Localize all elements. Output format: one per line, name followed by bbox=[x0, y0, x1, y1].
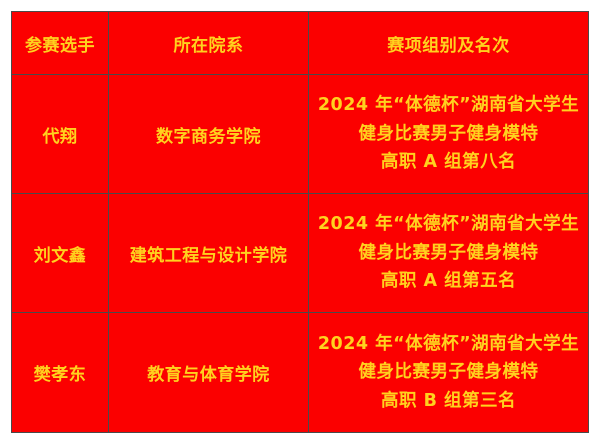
result-line-2: 健身比赛男子健身模特 bbox=[315, 239, 582, 267]
column-header-result: 赛项组别及名次 bbox=[309, 12, 589, 75]
cell-result: 2024 年“体德杯”湖南省大学生 健身比赛男子健身模特 高职 B 组第三名 bbox=[309, 313, 589, 433]
award-table: 参赛选手 所在院系 赛项组别及名次 代翔 数字商务学院 2024 年“体德杯”湖… bbox=[11, 11, 589, 433]
page-canvas: 参赛选手 所在院系 赛项组别及名次 代翔 数字商务学院 2024 年“体德杯”湖… bbox=[0, 0, 600, 435]
table-body: 代翔 数字商务学院 2024 年“体德杯”湖南省大学生 健身比赛男子健身模特 高… bbox=[12, 75, 589, 433]
cell-participant-name: 樊孝东 bbox=[12, 313, 109, 433]
column-header-name: 参赛选手 bbox=[12, 12, 109, 75]
table-header-row: 参赛选手 所在院系 赛项组别及名次 bbox=[12, 12, 589, 75]
result-line-3: 高职 A 组第八名 bbox=[315, 148, 582, 176]
table-row: 刘文鑫 建筑工程与设计学院 2024 年“体德杯”湖南省大学生 健身比赛男子健身… bbox=[12, 194, 589, 313]
cell-result: 2024 年“体德杯”湖南省大学生 健身比赛男子健身模特 高职 A 组第八名 bbox=[309, 75, 589, 194]
result-line-3: 高职 B 组第三名 bbox=[315, 387, 582, 415]
table-row: 樊孝东 教育与体育学院 2024 年“体德杯”湖南省大学生 健身比赛男子健身模特… bbox=[12, 313, 589, 433]
cell-department: 数字商务学院 bbox=[109, 75, 309, 194]
result-line-2: 健身比赛男子健身模特 bbox=[315, 358, 582, 386]
result-line-1: 2024 年“体德杯”湖南省大学生 bbox=[315, 330, 582, 358]
cell-result: 2024 年“体德杯”湖南省大学生 健身比赛男子健身模特 高职 A 组第五名 bbox=[309, 194, 589, 313]
result-line-3: 高职 A 组第五名 bbox=[315, 267, 582, 295]
result-line-1: 2024 年“体德杯”湖南省大学生 bbox=[315, 210, 582, 238]
cell-department: 建筑工程与设计学院 bbox=[109, 194, 309, 313]
cell-participant-name: 刘文鑫 bbox=[12, 194, 109, 313]
column-header-dept: 所在院系 bbox=[109, 12, 309, 75]
cell-participant-name: 代翔 bbox=[12, 75, 109, 194]
result-line-2: 健身比赛男子健身模特 bbox=[315, 120, 582, 148]
table-header: 参赛选手 所在院系 赛项组别及名次 bbox=[12, 12, 589, 75]
result-line-1: 2024 年“体德杯”湖南省大学生 bbox=[315, 91, 582, 119]
cell-department: 教育与体育学院 bbox=[109, 313, 309, 433]
table-row: 代翔 数字商务学院 2024 年“体德杯”湖南省大学生 健身比赛男子健身模特 高… bbox=[12, 75, 589, 194]
